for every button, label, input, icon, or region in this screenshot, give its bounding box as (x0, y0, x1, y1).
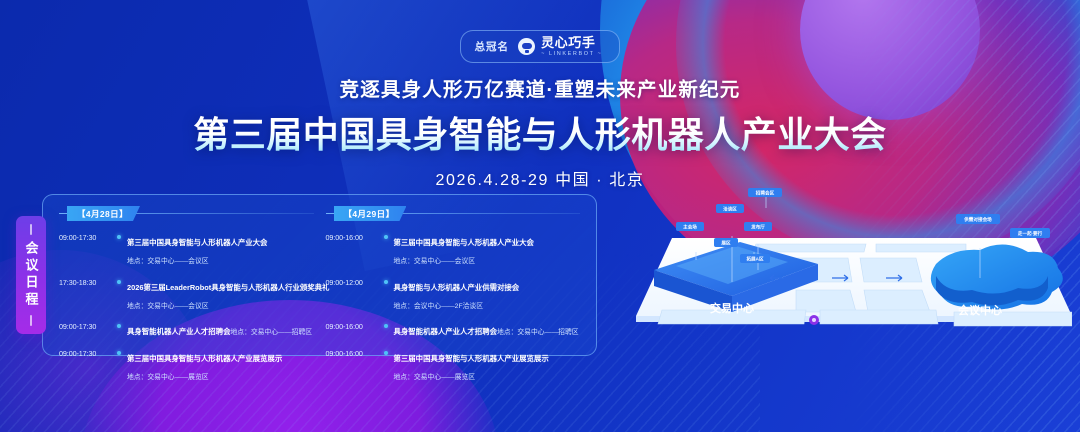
banner-stage: 总冠名 灵心巧手 ~ LINKERBOT ~ 竞逐具身人形万亿赛道·重塑未来产业… (0, 0, 1080, 432)
event-location: 地点：交易中心——会议区 (127, 258, 209, 265)
tab-rule-top (30, 224, 32, 235)
event-location: 地点：交易中心——会议区 (394, 258, 476, 265)
event-time: 09:00-16:00 (326, 348, 382, 358)
event-name: 具身智能机器人产业人才招聘会 (394, 327, 497, 336)
schedule-event-row[interactable]: 09:00-16:00第三届中国具身智能与人形机器人产业展览展示地点：交易中心—… (326, 348, 581, 384)
event-bullet-icon (384, 324, 388, 328)
event-location: 地点：交易中心——会议区 (127, 303, 209, 310)
event-time: 09:00-16:00 (326, 321, 382, 331)
event-bullet-icon (117, 324, 121, 328)
sponsor-logo: 灵心巧手 ~ LINKERBOT ~ (518, 36, 602, 57)
sponsor-label: 总冠名 (475, 39, 510, 54)
map-label-2: 主会场 (683, 224, 697, 231)
sponsor-badge: 总冠名 灵心巧手 ~ LINKERBOT ~ (460, 30, 621, 63)
banner-subtitle: 竞逐具身人形万亿赛道·重塑未来产业新纪元 (0, 73, 1080, 102)
map-label-7: 走一起·要行 (1017, 230, 1043, 237)
schedule-event-row[interactable]: 09:00-17:30具身智能机器人产业人才招聘会地点：交易中心——招聘区 (59, 321, 314, 339)
event-bullet-icon (384, 280, 388, 284)
schedule-panel: 【4月28日】09:00-17:30第三届中国具身智能与人形机器人产业大会地点：… (42, 194, 597, 356)
map-label-4: 展区 (721, 240, 731, 247)
schedule-event-row[interactable]: 17:30-18:302026第三届LeaderRobot具身智能与人形机器人行… (59, 277, 314, 313)
map-venue-trading: 交易中心 (710, 301, 754, 315)
schedule-event-row[interactable]: 09:00-17:30第三届中国具身智能与人形机器人产业展览展示地点：交易中心—… (59, 348, 314, 384)
banner-header: 总冠名 灵心巧手 ~ LINKERBOT ~ 竞逐具身人形万亿赛道·重塑未来产业… (0, 0, 1080, 190)
brand-name-cn: 灵心巧手 (541, 36, 595, 49)
schedule-event-row[interactable]: 09:00-12:00具身智能与人形机器人产业供需对接会地点：会议中心——2F洽… (326, 277, 581, 313)
brand-lockup: 灵心巧手 ~ LINKERBOT ~ (541, 36, 602, 57)
event-name: 第三届中国具身智能与人形机器人产业大会 (127, 238, 267, 247)
schedule-event-row[interactable]: 09:00-17:30第三届中国具身智能与人形机器人产业大会地点：交易中心——会… (59, 232, 314, 268)
schedule-event-row[interactable]: 09:00-16:00第三届中国具身智能与人形机器人产业大会地点：交易中心——会… (326, 232, 581, 268)
event-time: 09:00-12:00 (326, 277, 382, 287)
event-time: 09:00-16:00 (326, 232, 382, 242)
event-body: 具身智能机器人产业人才招聘会地点：交易中心——招聘区 (394, 321, 581, 339)
map-venue-conference: 会议中心 (958, 303, 1002, 317)
schedule-day-header: 【4月28日】 (59, 206, 314, 221)
schedule-day-header: 【4月29日】 (326, 206, 581, 221)
event-body: 第三届中国具身智能与人形机器人产业大会地点：交易中心——会议区 (394, 232, 581, 268)
event-name: 具身智能机器人产业人才招聘会 (127, 327, 230, 336)
event-location: 地点：交易中心——招聘区 (230, 329, 312, 336)
day-chip[interactable]: 【4月29日】 (334, 206, 407, 221)
event-location: 地点：会议中心——2F洽谈区 (394, 303, 484, 310)
event-name: 2026第三届LeaderRobot具身智能与人形机器人行业颁奖典礼 (127, 283, 329, 292)
event-bullet-icon (117, 235, 121, 239)
robot-icon (518, 38, 535, 55)
event-body: 具身智能与人形机器人产业供需对接会地点：会议中心——2F洽谈区 (394, 277, 581, 313)
venue-map[interactable]: 招聘会区 洽谈区 主会场 发布厅 展区 拓展A区 供需对接会场 走一起·要行 交… (636, 186, 1072, 346)
event-bullet-icon (117, 351, 121, 355)
schedule-column: 【4月28日】09:00-17:30第三届中国具身智能与人形机器人产业大会地点：… (53, 206, 320, 347)
event-name: 具身智能与人形机器人产业供需对接会 (394, 283, 520, 292)
event-name: 第三届中国具身智能与人形机器人产业展览展示 (127, 354, 282, 363)
map-building-conference (931, 244, 1063, 309)
event-bullet-icon (384, 235, 388, 239)
event-name: 第三届中国具身智能与人形机器人产业展览展示 (394, 354, 549, 363)
schedule-event-row[interactable]: 09:00-16:00具身智能机器人产业人才招聘会地点：交易中心——招聘区 (326, 321, 581, 339)
map-label-5: 拓展A区 (746, 256, 764, 263)
day-chip[interactable]: 【4月28日】 (67, 206, 140, 221)
map-label-3: 发布厅 (750, 224, 765, 231)
event-time: 09:00-17:30 (59, 348, 115, 358)
event-name: 第三届中国具身智能与人形机器人产业大会 (394, 238, 534, 247)
event-location: 地点：交易中心——招聘区 (497, 329, 579, 336)
event-body: 2026第三届LeaderRobot具身智能与人形机器人行业颁奖典礼地点：交易中… (127, 277, 314, 313)
event-bullet-icon (117, 280, 121, 284)
map-label-6: 供需对接会场 (963, 216, 992, 223)
banner-title: 第三届中国具身智能与人形机器人产业大会 (0, 106, 1080, 158)
event-location: 地点：交易中心——展览区 (394, 374, 476, 381)
event-location: 地点：交易中心——展览区 (127, 374, 209, 381)
event-body: 第三届中国具身智能与人形机器人产业大会地点：交易中心——会议区 (127, 232, 314, 268)
event-time: 09:00-17:30 (59, 321, 115, 331)
map-marker-icon (809, 315, 819, 325)
event-body: 具身智能机器人产业人才招聘会地点：交易中心——招聘区 (127, 321, 314, 339)
schedule-column: 【4月29日】09:00-16:00第三届中国具身智能与人形机器人产业大会地点：… (320, 206, 587, 347)
event-bullet-icon (384, 351, 388, 355)
tab-rule-bottom (30, 315, 32, 326)
event-time: 17:30-18:30 (59, 277, 115, 287)
event-body: 第三届中国具身智能与人形机器人产业展览展示地点：交易中心——展览区 (394, 348, 581, 384)
event-time: 09:00-17:30 (59, 232, 115, 242)
brand-name-en: ~ LINKERBOT ~ (541, 52, 602, 58)
event-body: 第三届中国具身智能与人形机器人产业展览展示地点：交易中心——展览区 (127, 348, 314, 384)
map-label-0: 招聘会区 (756, 190, 775, 197)
map-label-1: 洽谈区 (723, 206, 737, 213)
schedule-tab-label: 会议日程 (22, 241, 41, 309)
schedule-tab[interactable]: 会议日程 (16, 216, 46, 334)
